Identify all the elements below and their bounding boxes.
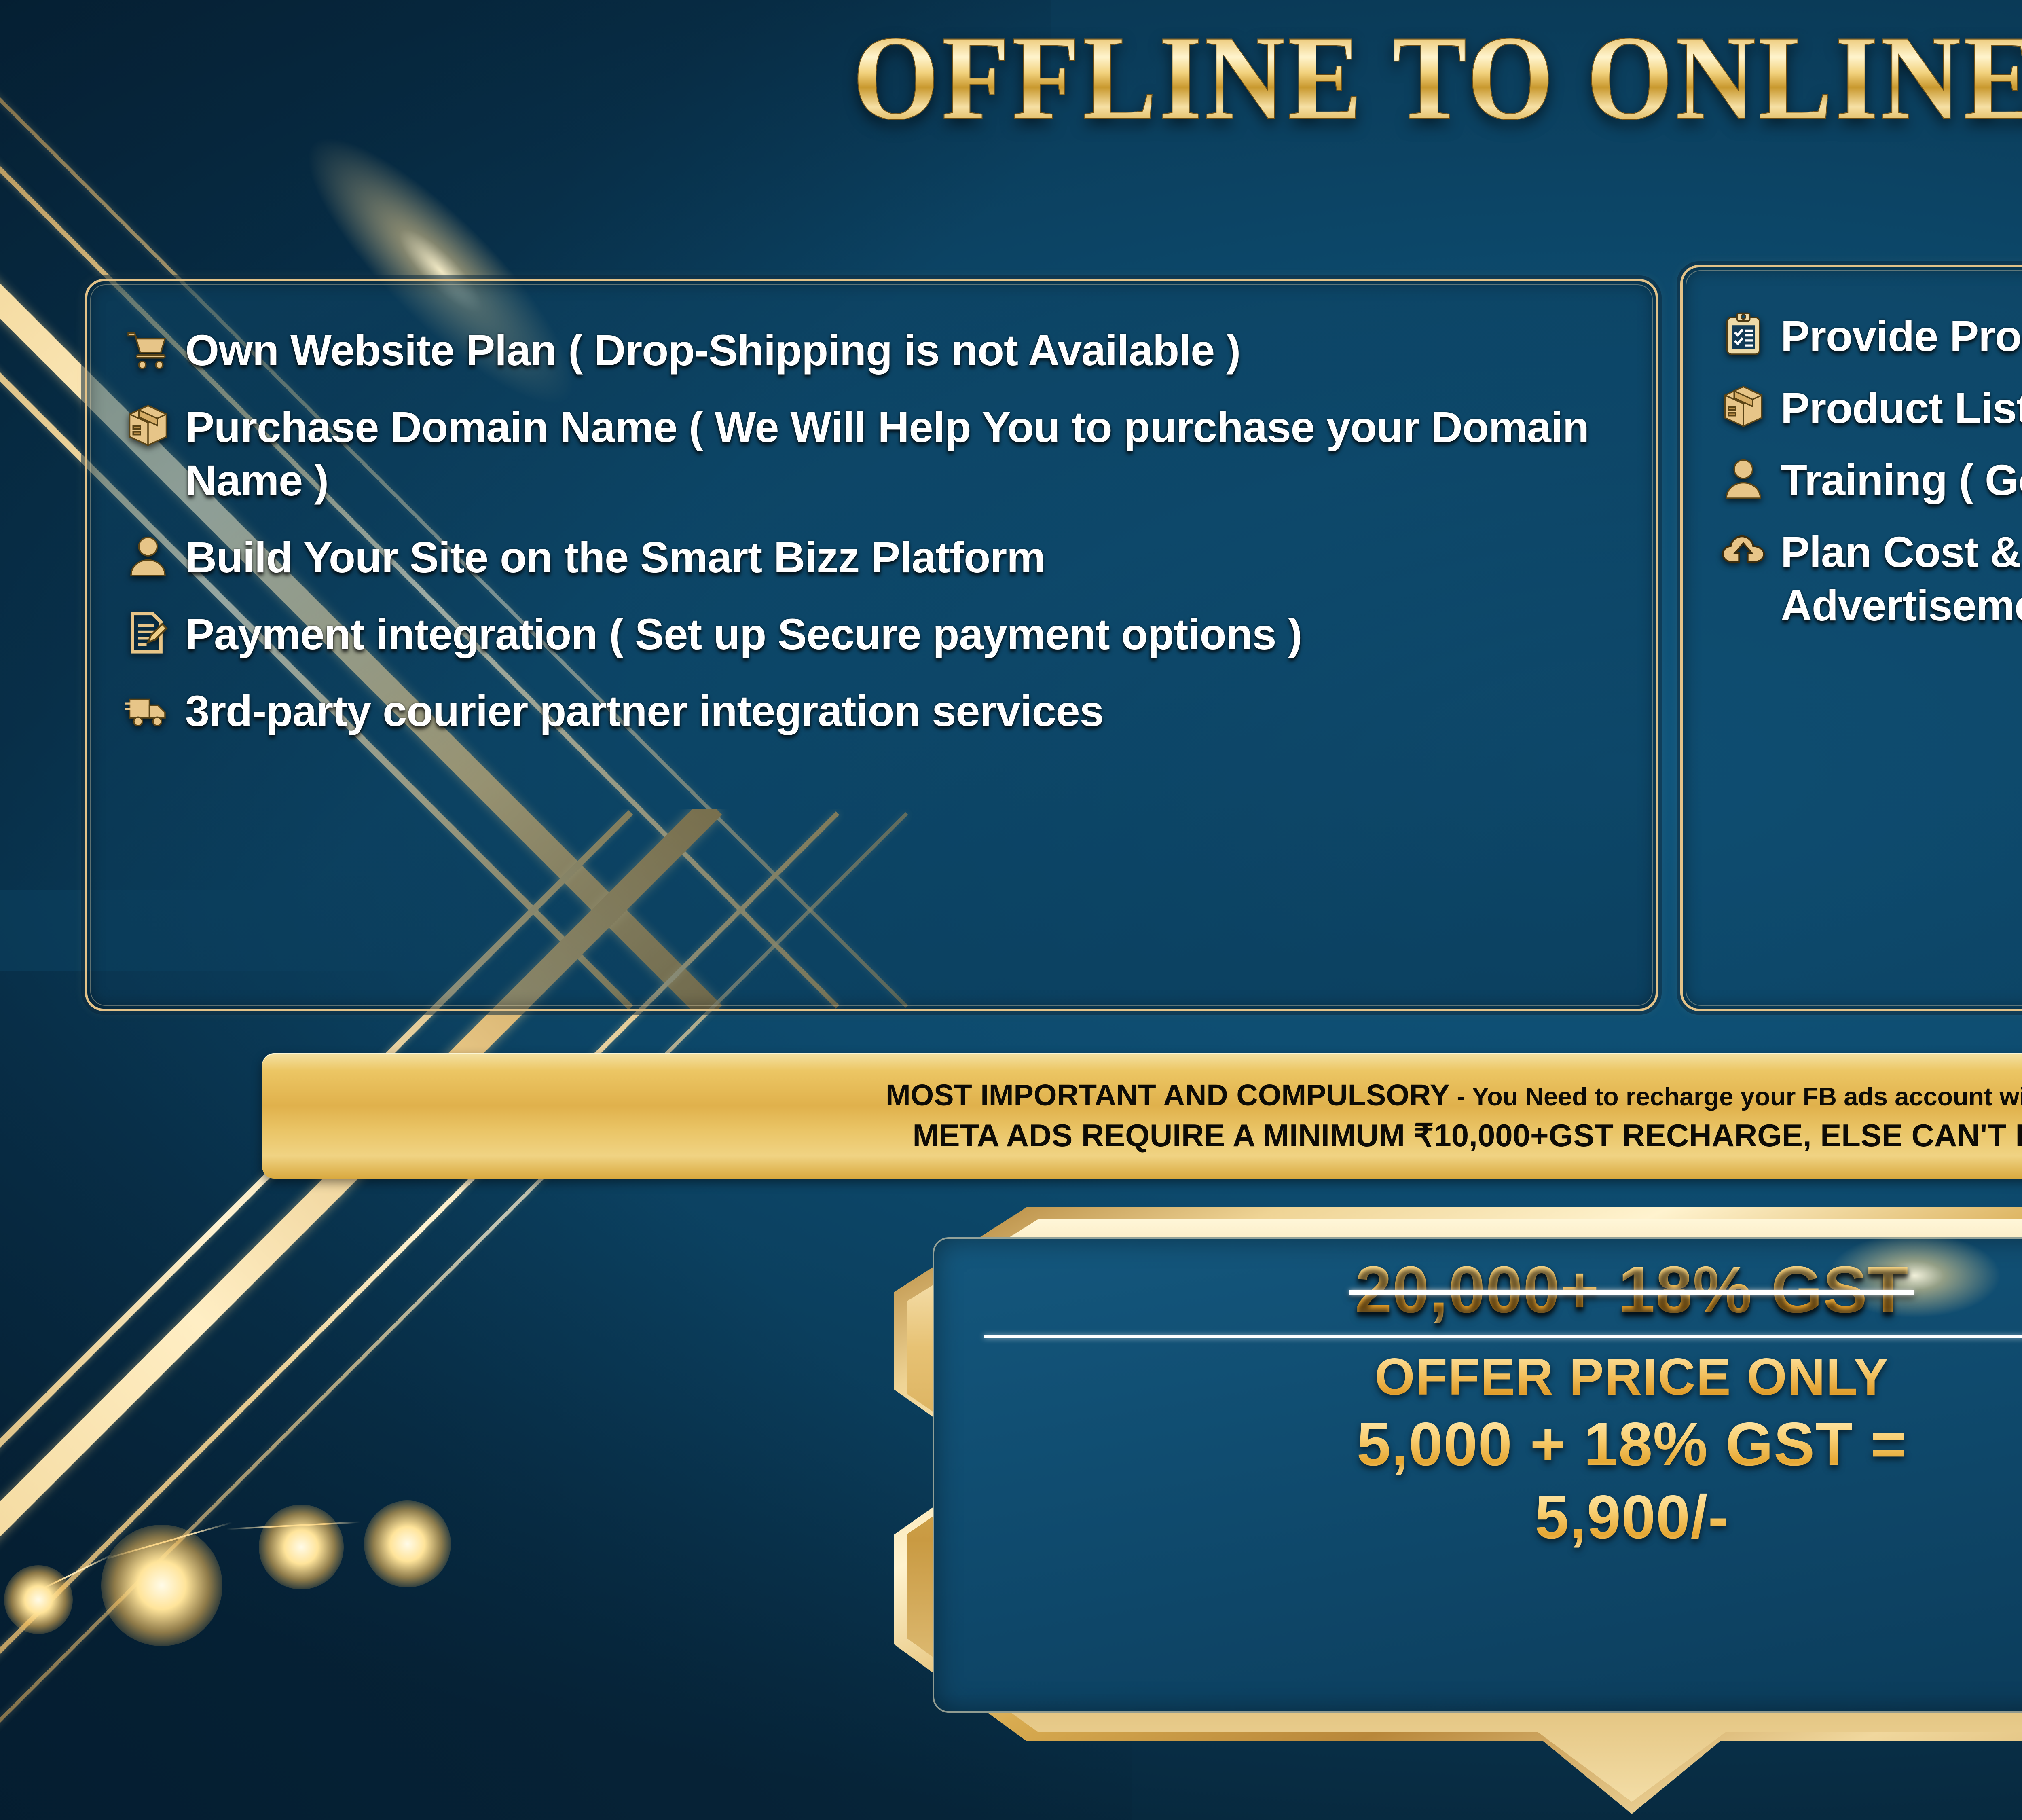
sparkle-dot [259,1505,344,1589]
cloud-upload-icon [1715,525,1772,579]
list-item-label: Build Your Site on the Smart Bizz Platfo… [185,531,1045,584]
list-item: Build Your Site on the Smart Bizz Platfo… [120,531,1633,584]
promotional-poster: OFFLINE TO ONLINE PLAN Own Website Plan … [0,0,2022,1820]
package-box-icon [120,400,176,454]
banner-line-1-rest: - You Need to recharge your FB ads accou… [1450,1083,2022,1111]
sparkle-thread [104,1522,232,1560]
page-title: OFFLINE TO ONLINE PLAN [129,17,2022,138]
sparkle-thread [226,1521,360,1530]
price-badge: 20,000+ 18% GST OFFER PRICE ONLY 5,000 +… [894,1207,2022,1814]
document-pencil-icon [120,607,176,661]
list-item: Product Listing ( We will List 20 produc… [1715,381,2022,435]
features-panel-right: Provide Product Info ( Client provides p… [1680,265,2022,1011]
list-item: Provide Product Info ( Client provides p… [1715,309,2022,363]
sparkle-dot [4,1565,73,1634]
list-item-label: Purchase Domain Name ( We Will Help You … [185,400,1633,507]
list-item: Plan Cost & Ads ( 5,000+ tax ( Plan Fee … [1715,525,2022,632]
offer-price-line-2: 5,900/- [969,1483,2022,1551]
strikethrough-line [1349,1290,1914,1295]
features-panel-left: Own Website Plan ( Drop-Shipping is not … [85,279,1658,1011]
old-price-row: 20,000+ 18% GST [969,1255,2022,1325]
package-box-icon [1715,381,1772,435]
sparkle-light-string [0,1432,607,1715]
list-item-label: 3rd-party courier partner integration se… [185,684,1104,738]
list-item: Training ( Get training for adding more … [1715,453,2022,507]
list-item: Purchase Domain Name ( We Will Help You … [120,400,1633,507]
offer-price-line-1: 5,000 + 18% GST = [969,1410,2022,1479]
banner-line-1-strong: MOST IMPORTANT AND COMPULSORY [886,1078,1450,1112]
delivery-truck-icon [120,684,176,738]
banner-line-2: META ADS REQUIRE A MINIMUM ₹10,000+GST R… [913,1119,2022,1152]
list-item: 3rd-party courier partner integration se… [120,684,1633,738]
offer-label: OFFER PRICE ONLY [969,1349,2022,1406]
list-item-label: Payment integration ( Set up Secure paym… [185,607,1302,661]
price-divider [984,1335,2022,1338]
user-person-icon [120,531,176,584]
clipboard-checklist-icon [1715,309,1772,363]
user-person-icon [1715,453,1772,507]
list-item-label: Plan Cost & Ads ( 5,000+ tax ( Plan Fee … [1781,525,2022,632]
list-item-label: Training ( Get training for adding more … [1781,453,2022,507]
badge-content: 20,000+ 18% GST OFFER PRICE ONLY 5,000 +… [933,1237,2022,1713]
feature-list-left: Own Website Plan ( Drop-Shipping is not … [87,281,1656,1009]
list-item-label: Own Website Plan ( Drop-Shipping is not … [185,324,1240,377]
compulsory-notice-banner: MOST IMPORTANT AND COMPULSORY - You Need… [262,1053,2022,1179]
sparkle-thread [29,1554,113,1596]
list-item: Payment integration ( Set up Secure paym… [120,607,1633,661]
sparkle-dot [101,1525,222,1646]
feature-list-right: Provide Product Info ( Client provides p… [1683,267,2022,1009]
banner-line-1: MOST IMPORTANT AND COMPULSORY - You Need… [886,1079,2022,1111]
sparkle-dot [364,1500,451,1587]
shopping-cart-icon [120,324,176,377]
list-item-label: Provide Product Info ( Client provides p… [1781,309,2022,363]
list-item: Own Website Plan ( Drop-Shipping is not … [120,324,1633,377]
old-price: 20,000+ 18% GST [1355,1255,1909,1325]
list-item-label: Product Listing ( We will List 20 produc… [1781,381,2022,435]
